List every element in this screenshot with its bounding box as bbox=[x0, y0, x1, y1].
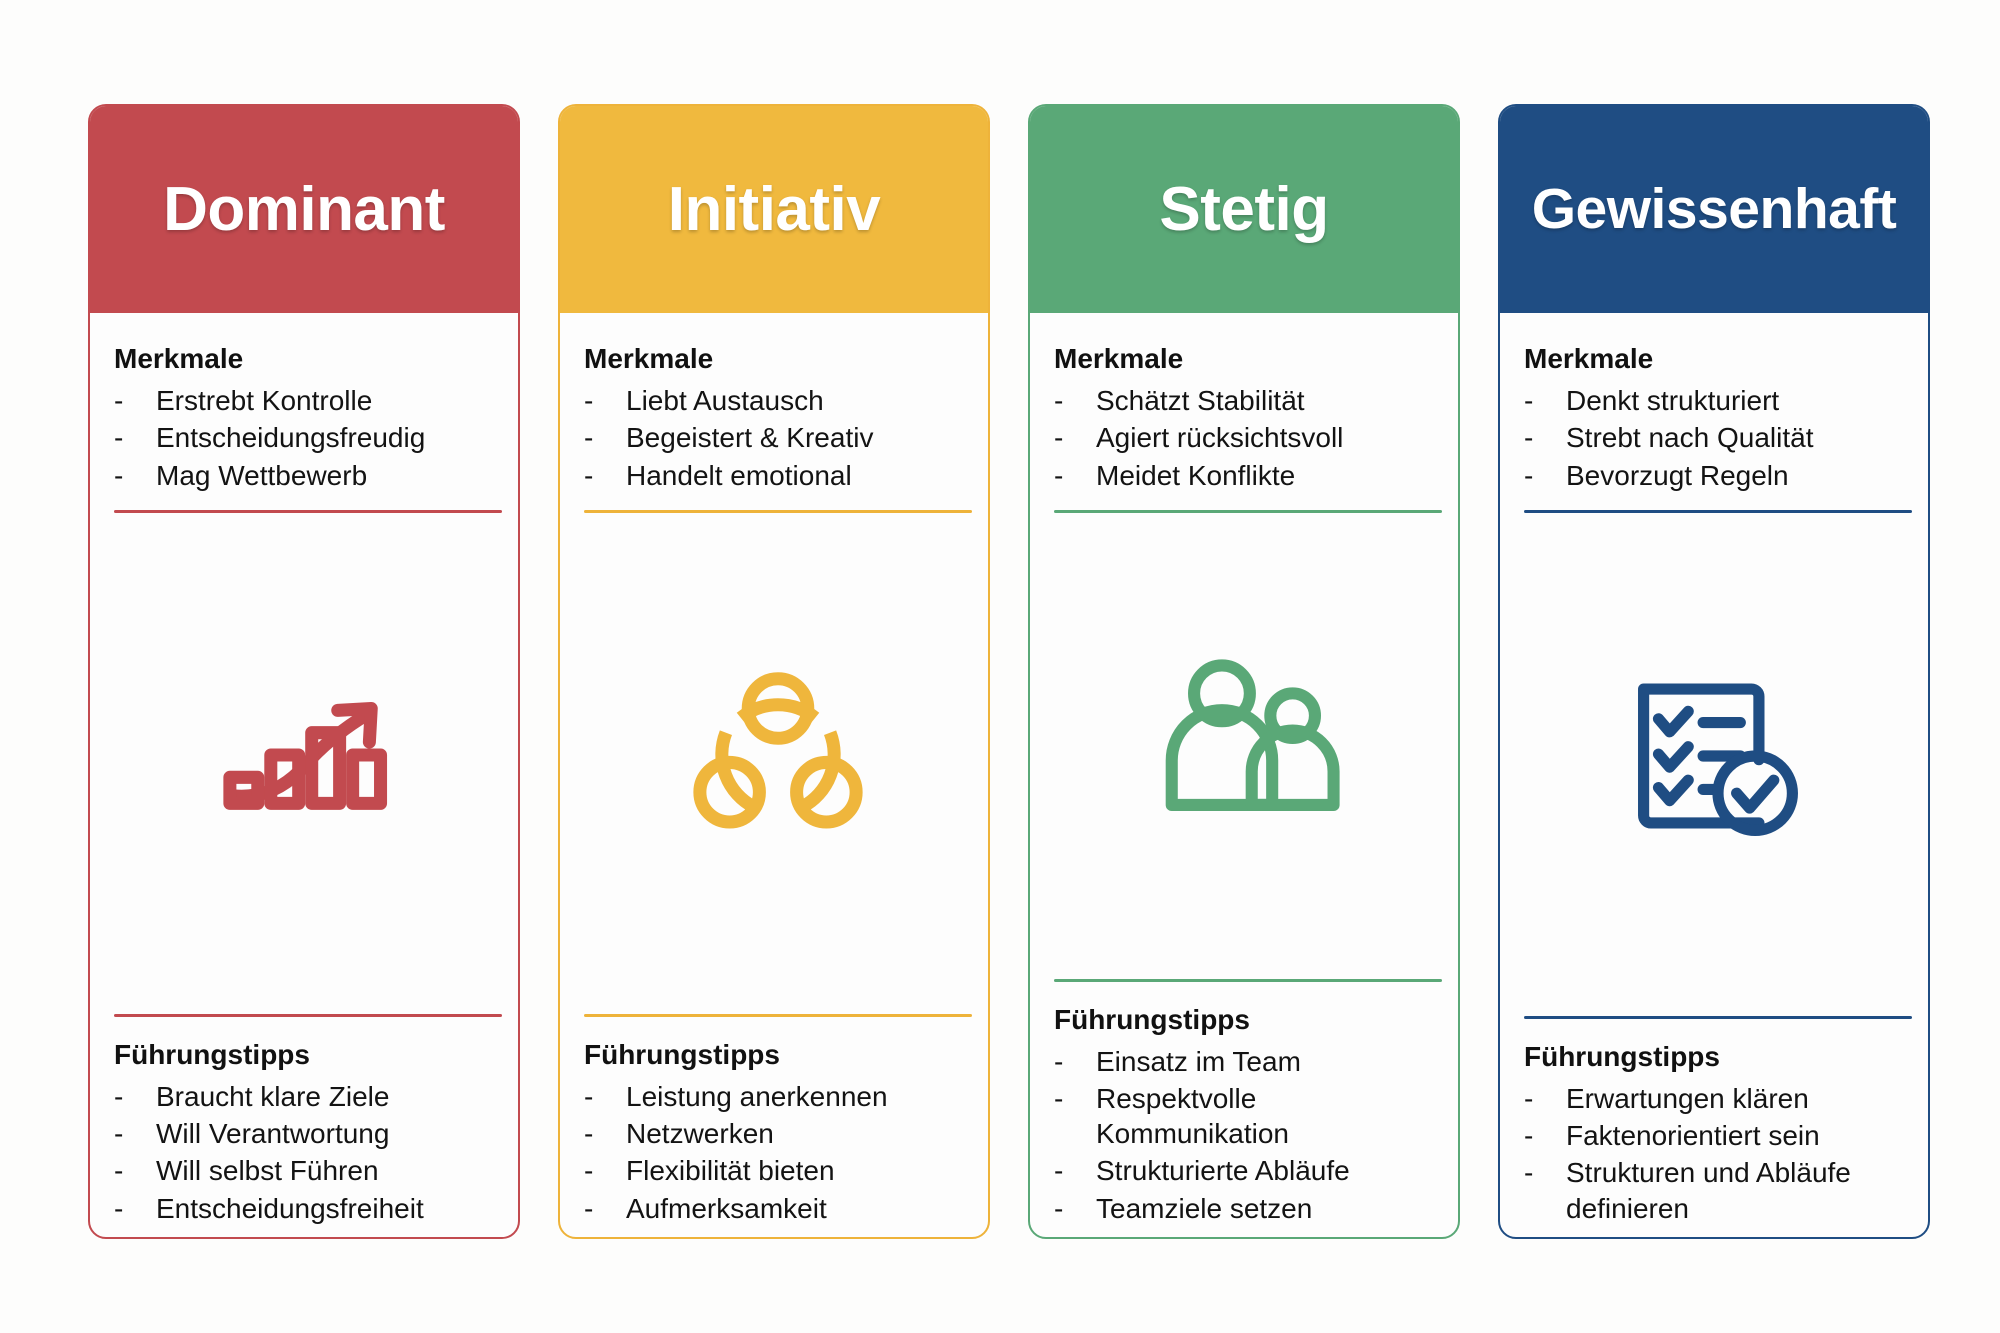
bullet-marker: - bbox=[114, 420, 156, 455]
icon-zone-stetig bbox=[1054, 513, 1442, 963]
list-item-label: Liebt Austausch bbox=[626, 383, 972, 418]
list-item-label: Denkt strukturiert bbox=[1566, 383, 1912, 418]
bullet-marker: - bbox=[1524, 1118, 1566, 1153]
list-item-label: Netzwerken bbox=[626, 1116, 972, 1151]
bullet-marker: - bbox=[1054, 1153, 1096, 1188]
tipps-list-initiativ: -Leistung anerkennen -Netzwerken -Flexib… bbox=[584, 1078, 972, 1227]
list-item-label: Entscheidungsfreudig bbox=[156, 420, 502, 455]
tipps-label-dominant: Führungstipps bbox=[114, 1037, 502, 1072]
merkmale-label-gewissenhaft: Merkmale bbox=[1524, 341, 1912, 376]
list-item-label: Will Verantwortung bbox=[156, 1116, 502, 1151]
bullet-marker: - bbox=[1524, 383, 1566, 418]
list-item-label: Strebt nach Qualität bbox=[1566, 420, 1912, 455]
list-item: -Denkt strukturiert bbox=[1524, 382, 1912, 419]
card-header-gewissenhaft: Gewissenhaft bbox=[1500, 106, 1928, 313]
bullet-marker: - bbox=[1054, 458, 1096, 493]
merkmale-label-dominant: Merkmale bbox=[114, 341, 502, 376]
list-item-label: Leistung anerkennen bbox=[626, 1079, 972, 1114]
merkmale-label-stetig: Merkmale bbox=[1054, 341, 1442, 376]
list-item-label: Bevorzugt Regeln bbox=[1566, 458, 1912, 493]
list-item: -Flexibilität bieten bbox=[584, 1152, 972, 1189]
list-item-label: Braucht klare Ziele bbox=[156, 1079, 502, 1114]
bullet-marker: - bbox=[114, 1079, 156, 1114]
merkmale-list-gewissenhaft: -Denkt strukturiert -Strebt nach Qualitä… bbox=[1524, 382, 1912, 494]
list-item-label: Erstrebt Kontrolle bbox=[156, 383, 502, 418]
card-title-gewissenhaft: Gewissenhaft bbox=[1532, 181, 1897, 238]
list-item: -Will Verantwortung bbox=[114, 1115, 502, 1152]
icon-zone-gewissenhaft bbox=[1524, 513, 1912, 1000]
tipps-list-gewissenhaft: -Erwartungen klären -Faktenorientiert se… bbox=[1524, 1080, 1912, 1227]
list-item: -Entscheidungsfreiheit bbox=[114, 1190, 502, 1227]
card-gewissenhaft: Gewissenhaft Merkmale -Denkt strukturier… bbox=[1498, 104, 1930, 1239]
bullet-marker: - bbox=[584, 1153, 626, 1188]
list-item-label: Strukturierte Abläufe bbox=[1096, 1153, 1442, 1188]
list-item: -Teamziele setzen bbox=[1054, 1190, 1442, 1227]
list-item: -Meidet Konflikte bbox=[1054, 457, 1442, 494]
growth-bar-chart-arrow-icon bbox=[215, 662, 401, 848]
list-item: -Faktenorientiert sein bbox=[1524, 1117, 1912, 1154]
list-item: -Strebt nach Qualität bbox=[1524, 419, 1912, 456]
list-item: -Bevorzugt Regeln bbox=[1524, 457, 1912, 494]
disc-profile-board: Dominant Merkmale -Erstrebt Kontrolle -E… bbox=[0, 0, 2000, 1333]
list-item-label: Faktenorientiert sein bbox=[1566, 1118, 1912, 1153]
list-item: -Respektvolle Kommunikation bbox=[1054, 1080, 1442, 1153]
checklist-clipboard-check-icon bbox=[1625, 663, 1811, 849]
card-initiativ: Initiativ Merkmale -Liebt Austausch -Beg… bbox=[558, 104, 990, 1239]
card-title-stetig: Stetig bbox=[1159, 179, 1328, 241]
bullet-marker: - bbox=[114, 458, 156, 493]
card-body-initiativ: Merkmale -Liebt Austausch -Begeistert & … bbox=[560, 313, 988, 1237]
bullet-marker: - bbox=[1054, 1191, 1096, 1226]
tipps-list-dominant: -Braucht klare Ziele -Will Verantwortung… bbox=[114, 1078, 502, 1227]
card-title-dominant: Dominant bbox=[163, 179, 445, 241]
icon-zone-dominant bbox=[114, 513, 502, 998]
list-item: -Liebt Austausch bbox=[584, 382, 972, 419]
list-item-label: Meidet Konflikte bbox=[1096, 458, 1442, 493]
bullet-marker: - bbox=[584, 383, 626, 418]
bullet-marker: - bbox=[114, 383, 156, 418]
list-item-label: Einsatz im Team bbox=[1096, 1044, 1442, 1079]
bullet-marker: - bbox=[1524, 458, 1566, 493]
list-item: -Will selbst Führen bbox=[114, 1152, 502, 1189]
bullet-marker: - bbox=[1054, 383, 1096, 418]
merkmale-list-dominant: -Erstrebt Kontrolle -Entscheidungsfreudi… bbox=[114, 382, 502, 494]
list-item: -Handelt emotional bbox=[584, 457, 972, 494]
list-item: -Netzwerken bbox=[584, 1115, 972, 1152]
bullet-marker: - bbox=[114, 1191, 156, 1226]
list-item: -Strukturen und Abläufe definieren bbox=[1524, 1154, 1912, 1227]
list-item: -Einsatz im Team bbox=[1054, 1043, 1442, 1080]
card-header-dominant: Dominant bbox=[90, 106, 518, 313]
list-item-label: Agiert rücksichtsvoll bbox=[1096, 420, 1442, 455]
list-item: -Erstrebt Kontrolle bbox=[114, 382, 502, 419]
bullet-marker: - bbox=[584, 420, 626, 455]
merkmale-list-initiativ: -Liebt Austausch -Begeistert & Kreativ -… bbox=[584, 382, 972, 494]
list-item-label: Erwartungen klären bbox=[1566, 1081, 1912, 1116]
list-item-label: Will selbst Führen bbox=[156, 1153, 502, 1188]
card-dominant: Dominant Merkmale -Erstrebt Kontrolle -E… bbox=[88, 104, 520, 1239]
list-item-label: Flexibilität bieten bbox=[626, 1153, 972, 1188]
bullet-marker: - bbox=[114, 1116, 156, 1151]
tipps-label-gewissenhaft: Führungstipps bbox=[1524, 1039, 1912, 1074]
list-item: -Leistung anerkennen bbox=[584, 1078, 972, 1115]
list-item-label: Aufmerksamkeit bbox=[626, 1191, 972, 1226]
tipps-label-stetig: Führungstipps bbox=[1054, 1002, 1442, 1037]
list-item-label: Respektvolle Kommunikation bbox=[1096, 1081, 1442, 1152]
list-item: -Erwartungen klären bbox=[1524, 1080, 1912, 1117]
list-item: -Strukturierte Abläufe bbox=[1054, 1152, 1442, 1189]
merkmale-list-stetig: -Schätzt Stabilität -Agiert rücksichtsvo… bbox=[1054, 382, 1442, 494]
bullet-marker: - bbox=[1524, 1155, 1566, 1190]
card-body-dominant: Merkmale -Erstrebt Kontrolle -Entscheidu… bbox=[90, 313, 518, 1237]
bullet-marker: - bbox=[1524, 1081, 1566, 1116]
list-item: -Aufmerksamkeit bbox=[584, 1190, 972, 1227]
list-item: -Entscheidungsfreudig bbox=[114, 419, 502, 456]
three-connected-circles-network-icon bbox=[685, 662, 871, 848]
card-title-initiativ: Initiativ bbox=[668, 179, 881, 241]
bullet-marker: - bbox=[584, 1079, 626, 1114]
list-item-label: Strukturen und Abläufe definieren bbox=[1566, 1155, 1912, 1226]
list-item: -Agiert rücksichtsvoll bbox=[1054, 419, 1442, 456]
card-stetig: Stetig Merkmale -Schätzt Stabilität -Agi… bbox=[1028, 104, 1460, 1239]
card-header-stetig: Stetig bbox=[1030, 106, 1458, 313]
card-body-stetig: Merkmale -Schätzt Stabilität -Agiert rüc… bbox=[1030, 313, 1458, 1237]
list-item-label: Begeistert & Kreativ bbox=[626, 420, 972, 455]
bullet-marker: - bbox=[1524, 420, 1566, 455]
list-item-label: Entscheidungsfreiheit bbox=[156, 1191, 502, 1226]
list-item-label: Mag Wettbewerb bbox=[156, 458, 502, 493]
list-item: -Begeistert & Kreativ bbox=[584, 419, 972, 456]
tipps-zone-dominant: Führungstipps -Braucht klare Ziele -Will… bbox=[114, 1017, 502, 1227]
tipps-zone-gewissenhaft: Führungstipps -Erwartungen klären -Fakte… bbox=[1524, 1019, 1912, 1227]
bullet-marker: - bbox=[584, 458, 626, 493]
card-body-gewissenhaft: Merkmale -Denkt strukturiert -Strebt nac… bbox=[1500, 313, 1928, 1237]
bullet-marker: - bbox=[1054, 1081, 1096, 1116]
merkmale-label-initiativ: Merkmale bbox=[584, 341, 972, 376]
list-item: -Braucht klare Ziele bbox=[114, 1078, 502, 1115]
tipps-zone-initiativ: Führungstipps -Leistung anerkennen -Netz… bbox=[584, 1017, 972, 1227]
bullet-marker: - bbox=[114, 1153, 156, 1188]
tipps-label-initiativ: Führungstipps bbox=[584, 1037, 972, 1072]
list-item-label: Handelt emotional bbox=[626, 458, 972, 493]
two-people-group-icon bbox=[1155, 645, 1341, 831]
list-item-label: Schätzt Stabilität bbox=[1096, 383, 1442, 418]
bullet-marker: - bbox=[1054, 420, 1096, 455]
icon-zone-initiativ bbox=[584, 513, 972, 998]
tipps-list-stetig: -Einsatz im Team -Respektvolle Kommunika… bbox=[1054, 1043, 1442, 1227]
list-item: -Schätzt Stabilität bbox=[1054, 382, 1442, 419]
card-header-initiativ: Initiativ bbox=[560, 106, 988, 313]
list-item-label: Teamziele setzen bbox=[1096, 1191, 1442, 1226]
bullet-marker: - bbox=[584, 1116, 626, 1151]
list-item: -Mag Wettbewerb bbox=[114, 457, 502, 494]
tipps-zone-stetig: Führungstipps -Einsatz im Team -Respektv… bbox=[1054, 982, 1442, 1227]
bullet-marker: - bbox=[1054, 1044, 1096, 1079]
bullet-marker: - bbox=[584, 1191, 626, 1226]
